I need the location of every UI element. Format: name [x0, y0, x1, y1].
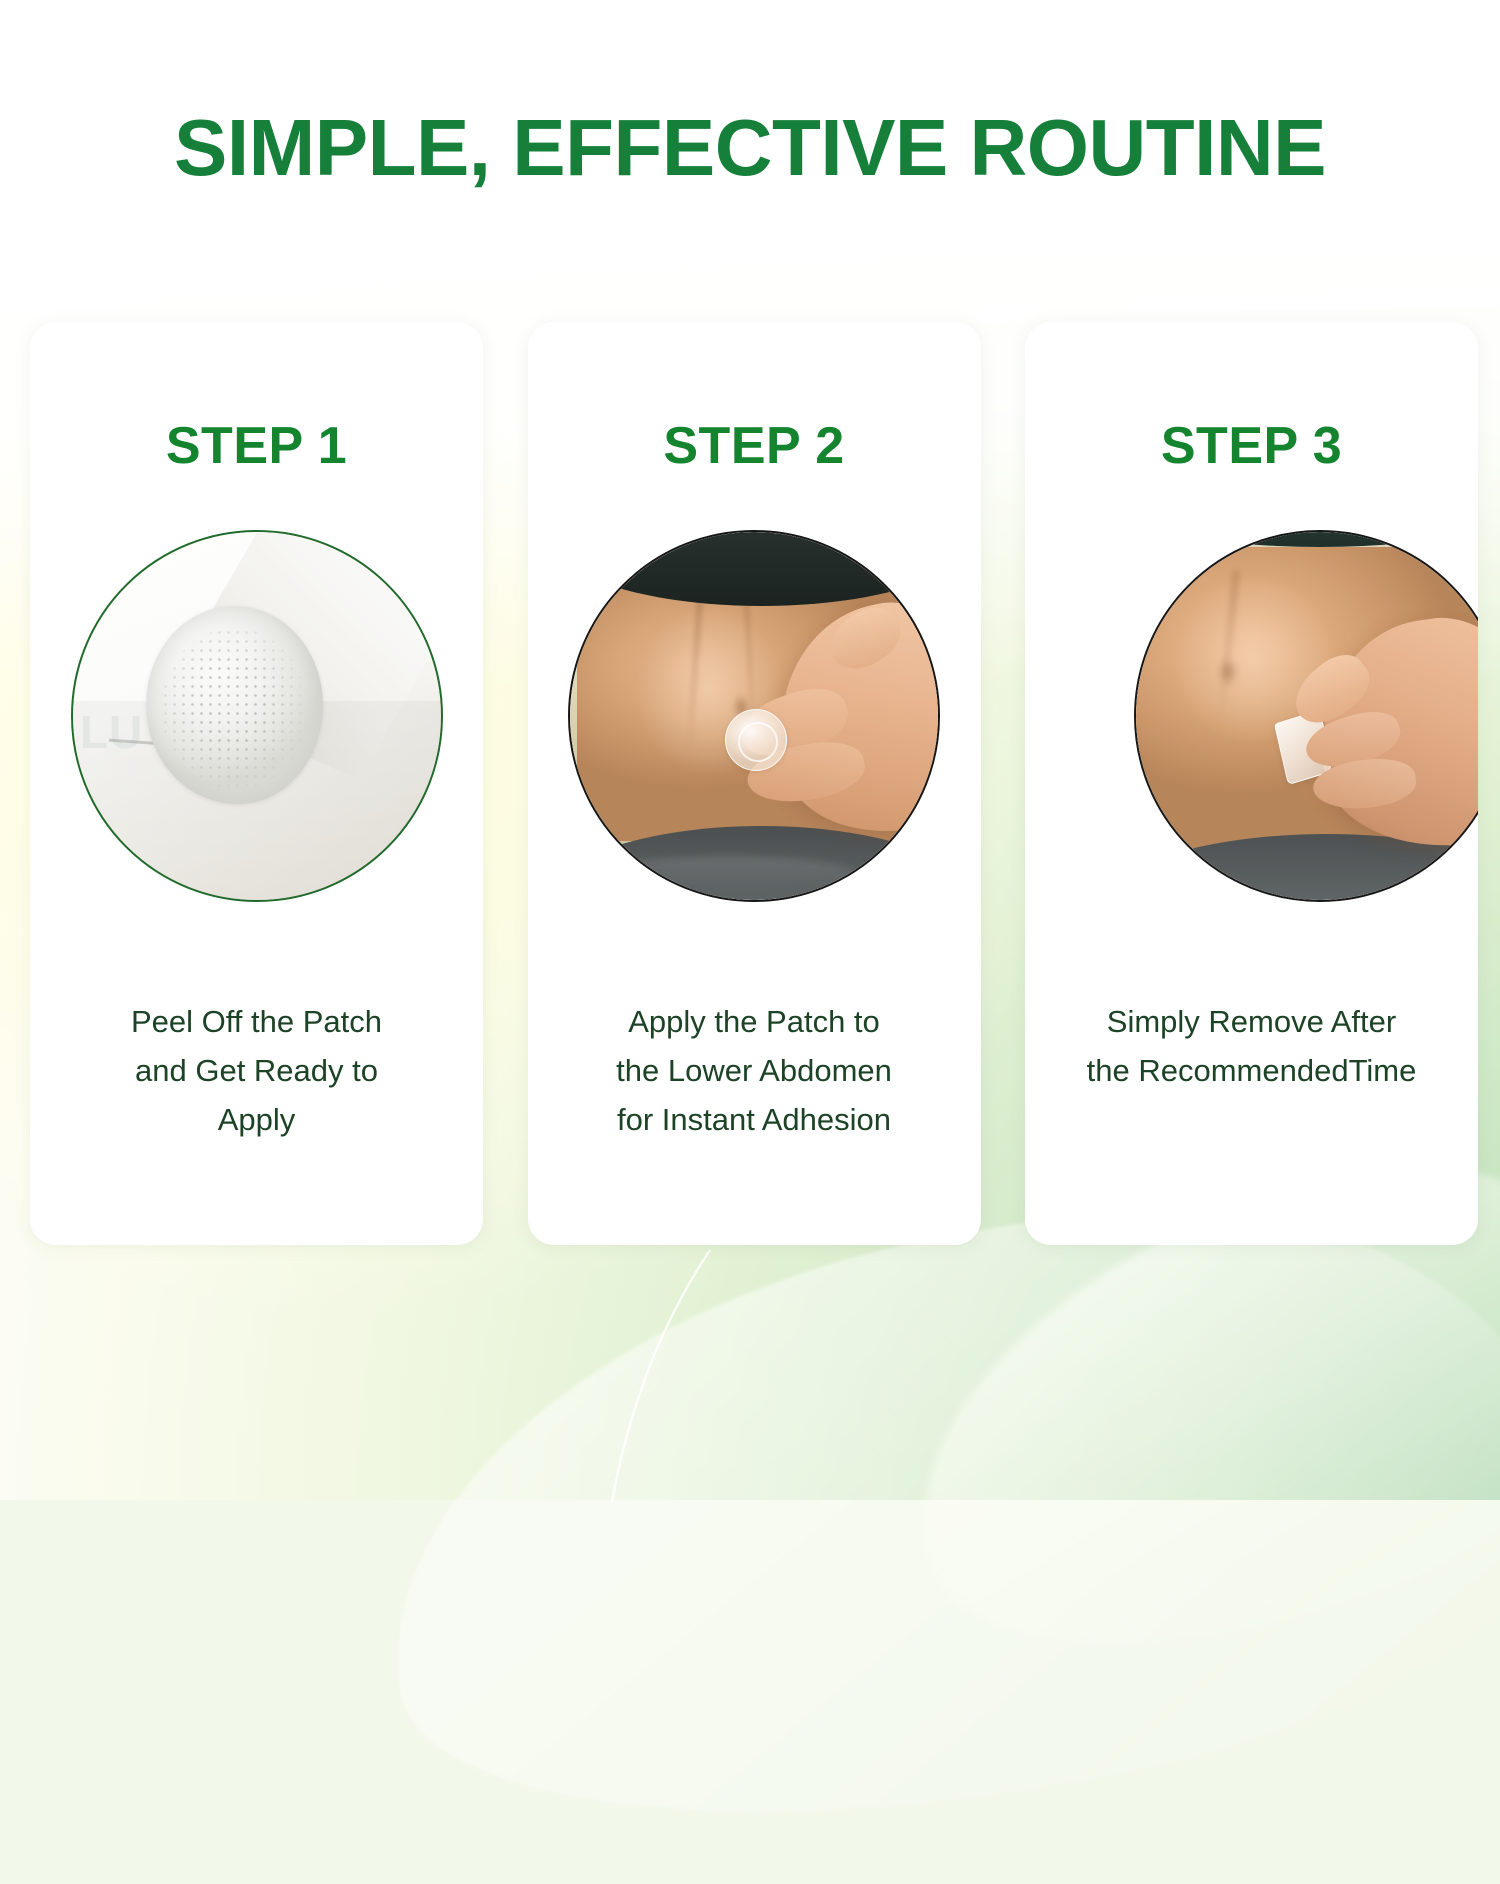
step-1-caption-line-2: and Get Ready to [56, 1047, 457, 1096]
step-3-caption: Simply Remove After the RecommendedTime [1051, 998, 1452, 1096]
page-title: SIMPLE, EFFECTIVE ROUTINE [0, 104, 1500, 192]
step-2-image-frame [568, 530, 940, 902]
step-2-caption: Apply the Patch to the Lower Abdomen for… [554, 998, 955, 1145]
applying-patch-to-abdomen-photo [570, 532, 938, 900]
photo3-navel [1217, 657, 1239, 687]
step-1-label: STEP 1 [30, 416, 483, 476]
step-2-caption-line-2: the Lower Abdomen [554, 1047, 955, 1096]
step-3-caption-line-2: the RecommendedTime [1051, 1047, 1452, 1096]
patch-on-liner-photo: LU [73, 532, 441, 900]
photo1-brand-watermark: LU [80, 705, 143, 759]
step-2-caption-line-3: for Instant Adhesion [554, 1096, 955, 1145]
step-3-image-frame [1134, 530, 1478, 902]
step-1-image-frame: LU [71, 530, 443, 902]
step-1-caption: Peel Off the Patch and Get Ready to Appl… [56, 998, 457, 1145]
step-2-label: STEP 2 [528, 416, 981, 476]
step-3-caption-line-1: Simply Remove After [1051, 998, 1452, 1047]
step-card-3: STEP 3 Simply Remove After the Recommend [1025, 322, 1478, 1245]
step-1-caption-line-3: Apply [56, 1096, 457, 1145]
step-card-2: STEP 2 Apply the Pa [528, 322, 981, 1245]
removing-patch-photo [1136, 532, 1478, 900]
photo2-waistband-highlight [599, 856, 857, 893]
background-stem-curve [560, 1250, 800, 1530]
photo1-patch-texture-dots [161, 628, 308, 790]
steps-row: STEP 1 LU Peel Off the Patch and Get Rea… [30, 322, 1478, 1245]
step-2-caption-line-1: Apply the Patch to [554, 998, 955, 1047]
step-1-caption-line-1: Peel Off the Patch [56, 998, 457, 1047]
step-3-label: STEP 3 [1025, 416, 1478, 476]
photo2-round-patch [725, 709, 788, 772]
step-card-1: STEP 1 LU Peel Off the Patch and Get Rea… [30, 322, 483, 1245]
